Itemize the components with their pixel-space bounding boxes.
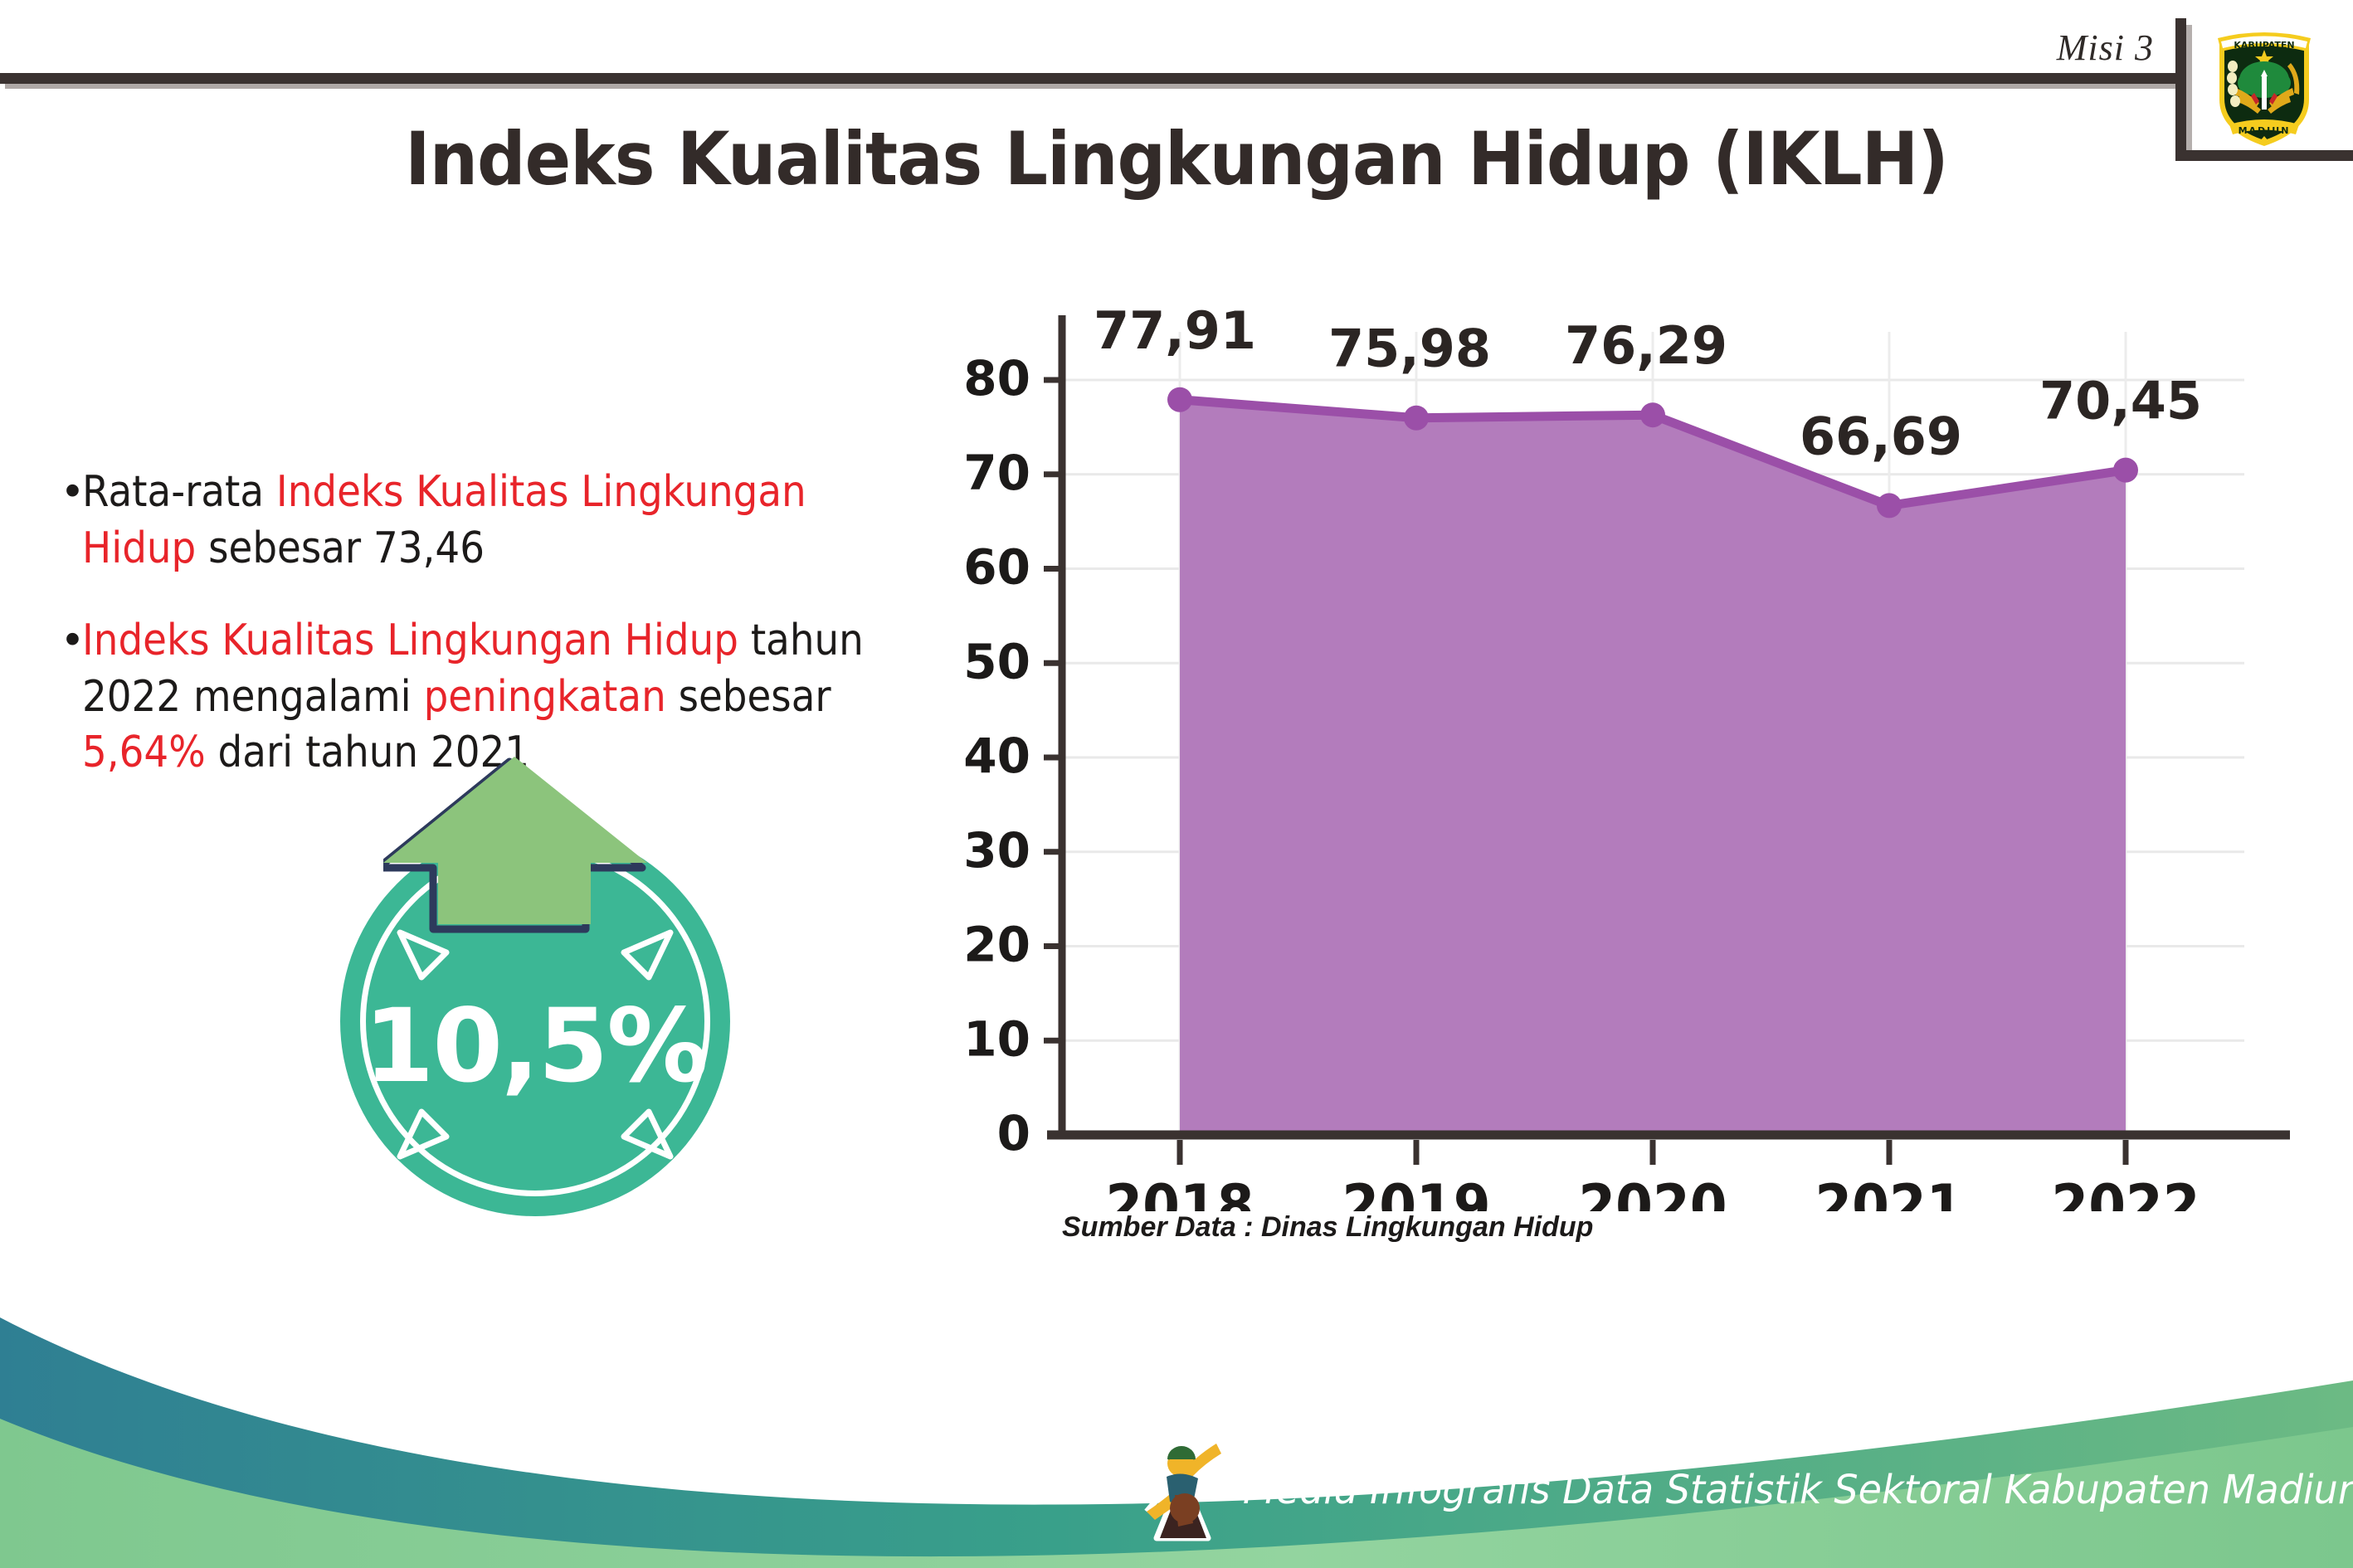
svg-text:10: 10 <box>963 1010 1030 1067</box>
bullet-marker-icon: • <box>65 468 80 513</box>
iklh-area-chart: 010203040506070802018201920202021202277,… <box>962 282 2290 1278</box>
svg-text:50: 50 <box>963 633 1030 689</box>
svg-text:0: 0 <box>997 1105 1030 1161</box>
footer-text: Media Infografis Data Statistik Sektoral… <box>1243 1467 2353 1513</box>
up-arrow-icon <box>383 747 657 979</box>
misi-label: Misi 3 <box>2057 27 2154 69</box>
svg-text:2019: 2019 <box>1342 1172 1490 1211</box>
bullet-marker-icon: • <box>65 616 80 661</box>
svg-text:60: 60 <box>963 539 1030 596</box>
svg-text:70,45: 70,45 <box>2039 371 2202 431</box>
svg-text:30: 30 <box>963 822 1030 879</box>
segment: sebesar 73,46 <box>196 523 485 573</box>
svg-text:75,98: 75,98 <box>1328 319 1491 379</box>
badge-value: 10,5% <box>340 987 730 1105</box>
increase-badge: 10,5% <box>324 747 755 1211</box>
svg-text:76,29: 76,29 <box>1565 315 1727 376</box>
segment: Rata-rata <box>82 467 276 517</box>
svg-text:40: 40 <box>963 728 1030 784</box>
svg-text:KABUPATEN: KABUPATEN <box>2234 40 2294 51</box>
svg-text:70: 70 <box>963 445 1030 501</box>
svg-text:20: 20 <box>963 917 1030 973</box>
media-infografis-logo-icon <box>1142 1432 1233 1543</box>
segment-highlight: Indeks Kualitas Lingkungan Hidup <box>82 616 738 665</box>
chart-canvas: 010203040506070802018201920202021202277,… <box>962 282 2290 1211</box>
segment-highlight: peningkatan <box>423 672 665 722</box>
svg-text:80: 80 <box>963 350 1030 407</box>
header-rule-shadow <box>5 84 2177 89</box>
header-rule <box>0 73 2175 84</box>
segment-highlight: 5,64% <box>82 728 206 777</box>
svg-text:2021: 2021 <box>1815 1172 1963 1211</box>
svg-text:2018: 2018 <box>1105 1172 1254 1211</box>
svg-text:77,91: 77,91 <box>1094 300 1256 361</box>
svg-text:2022: 2022 <box>2051 1172 2200 1211</box>
chart-source-note: Sumber Data : Dinas Lingkungan Hidup <box>1062 1211 1593 1244</box>
page-title: Indeks Kualitas Lingkungan Hidup (IKLH) <box>82 116 2270 202</box>
bullet-text-average: Rata-rata Indeks Kualitas Lingkungan Hid… <box>82 465 895 577</box>
segment: sebesar <box>666 672 831 722</box>
bullet-item: • Rata-rata Indeks Kualitas Lingkungan H… <box>65 465 986 577</box>
svg-text:2020: 2020 <box>1578 1172 1727 1211</box>
svg-text:66,69: 66,69 <box>1800 406 1962 466</box>
